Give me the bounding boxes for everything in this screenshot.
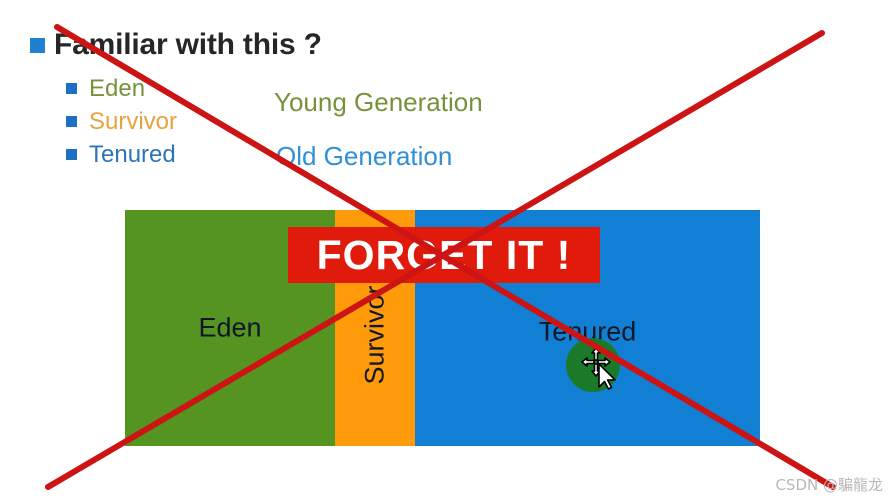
young-generation-label: Young Generation — [274, 87, 483, 118]
list-item: Survivor — [66, 105, 296, 138]
forget-it-banner: FORGET IT ! — [288, 227, 600, 283]
square-bullet-icon — [66, 149, 77, 160]
heap-segment-label-survivor: Survivor — [360, 285, 391, 384]
list-item: Tenured — [66, 138, 296, 171]
list-item-label-tenured: Tenured — [89, 141, 176, 169]
old-generation-label: Old Generation — [276, 141, 452, 172]
generation-region-list: Eden Survivor Tenured — [66, 72, 296, 171]
click-indicator — [566, 338, 620, 392]
list-item: Eden — [66, 72, 296, 105]
page-title-text: Familiar with this ? — [54, 28, 322, 62]
page-title: Familiar with this ? — [30, 28, 322, 62]
square-bullet-icon — [66, 83, 77, 94]
square-bullet-icon — [30, 38, 45, 53]
square-bullet-icon — [66, 116, 77, 127]
list-item-label-survivor: Survivor — [89, 108, 177, 136]
forget-it-banner-text: FORGET IT ! — [317, 232, 572, 279]
heap-segment-label-eden: Eden — [198, 313, 261, 344]
slide-canvas: Familiar with this ? Eden Survivor Tenur… — [0, 0, 893, 501]
watermark: CSDN @騙龍龙 — [775, 474, 883, 495]
list-item-label-eden: Eden — [89, 75, 145, 103]
